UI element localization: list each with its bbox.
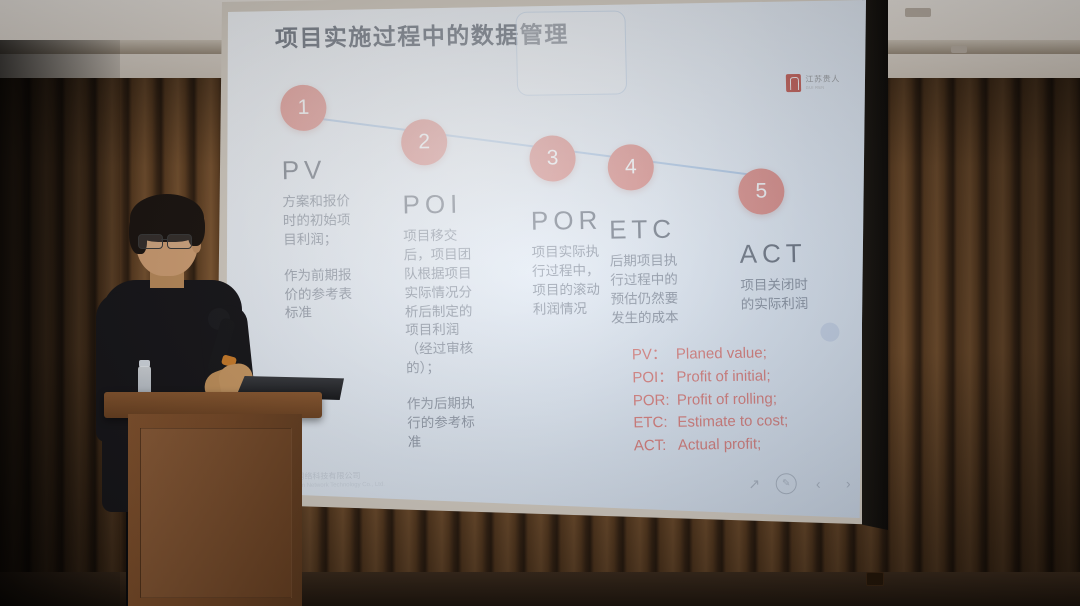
projection-screen: 项目实施过程中的数据管理 江苏贵人 GUI REN 1 PV 方案和报价时的初始… xyxy=(226,0,866,518)
legend-key: POI： xyxy=(632,367,676,390)
ceiling-vent xyxy=(905,8,931,17)
glasses-lens-right xyxy=(167,234,192,249)
logo-text: 江苏贵人 GUI REN xyxy=(805,76,840,90)
step-bubble-5: 5 xyxy=(738,168,785,215)
step-node-2: 2 POI 项目移交后，项目团队根据项目实际情况分析后制定的项目利润（经过审核的… xyxy=(401,118,488,452)
share-icon[interactable]: ↗ xyxy=(746,476,763,493)
step-code-1: PV xyxy=(281,154,362,186)
step-bubble-3: 3 xyxy=(529,135,576,182)
step-code-3: POR xyxy=(531,205,612,237)
step-node-4: 4 ETC 后期项目执行过程中的预估仍然要发生的成本 xyxy=(607,144,691,329)
legend-key: ETC: xyxy=(633,412,677,435)
legend-item: PV： Planed value; xyxy=(632,342,787,367)
pen-icon[interactable]: ✎ xyxy=(776,473,797,494)
step-body-4: 后期项目执行过程中的预估仍然要发生的成本 xyxy=(610,252,692,329)
step-body-2: 项目移交后，项目团队根据项目实际情况分析后制定的项目利润（经过审核的）； xyxy=(403,226,486,378)
legend-value: Profit of rolling; xyxy=(677,388,778,412)
step-node-5: 5 ACT 项目关闭时的实际利润 xyxy=(738,168,821,315)
legend-item: POI： Profit of initial; xyxy=(632,365,787,390)
next-slide-icon[interactable]: › xyxy=(840,474,857,491)
step-code-4: ETC xyxy=(609,214,690,246)
legend-block: PV： Planed value; POI： Profit of initial… xyxy=(632,342,789,458)
step-node-1: 1 PV 方案和报价时的初始项目利润； 作为前期报价的参考表标准 xyxy=(280,84,365,323)
glasses-lens-left xyxy=(138,234,163,249)
ceiling-sensor-icon xyxy=(951,46,967,53)
conference-room-photo: 项目实施过程中的数据管理 江苏贵人 GUI REN 1 PV 方案和报价时的初始… xyxy=(0,0,1080,606)
legend-value: Actual profit; xyxy=(678,434,762,458)
logo-mark-icon xyxy=(785,74,800,92)
glasses-icon xyxy=(138,234,198,248)
slide-nav-controls[interactable]: ↗ ✎ ‹ › xyxy=(746,472,857,495)
logo-name-cn: 江苏贵人 xyxy=(805,76,840,84)
legend-value: Profit of initial; xyxy=(676,365,771,389)
screen-artifact-dot xyxy=(820,322,839,341)
step-bubble-4: 4 xyxy=(607,144,654,191)
step-body2-1: 作为前期报价的参考表标准 xyxy=(284,266,365,324)
step-bubble-2: 2 xyxy=(401,119,448,166)
step-body-5: 项目关闭时的实际利润 xyxy=(740,276,821,315)
step-body-1: 方案和报价时的初始项目利润； xyxy=(282,192,363,250)
legend-value: Planed value; xyxy=(676,342,767,366)
step-code-5: ACT xyxy=(739,238,820,270)
legend-key: POR: xyxy=(633,389,677,412)
legend-key: PV： xyxy=(632,344,676,367)
step-body2-2: 作为后期执行的参考标准 xyxy=(407,395,488,453)
highlight-box xyxy=(515,10,627,96)
legend-value: Estimate to cost; xyxy=(677,411,788,435)
logo-name-en: GUI REN xyxy=(806,85,840,89)
wall-outlet xyxy=(866,572,884,586)
legend-item: ETC: Estimate to cost; xyxy=(633,411,788,436)
step-body-3: 项目实际执行过程中，项目的滚动利润情况 xyxy=(531,243,613,320)
legend-item: ACT: Actual profit; xyxy=(634,433,789,458)
slide-content: 项目实施过程中的数据管理 江苏贵人 GUI REN 1 PV 方案和报价时的初始… xyxy=(226,0,866,518)
step-node-3: 3 POR 项目实际执行过程中，项目的滚动利润情况 xyxy=(529,135,613,320)
legend-item: POR: Profit of rolling; xyxy=(633,388,788,413)
screen-right-edge xyxy=(862,0,888,530)
podium-front-panel xyxy=(140,428,292,598)
company-logo: 江苏贵人 GUI REN xyxy=(785,73,840,92)
step-bubble-1: 1 xyxy=(280,85,327,132)
prev-slide-icon[interactable]: ‹ xyxy=(810,475,827,492)
legend-key: ACT: xyxy=(634,435,678,458)
step-code-2: POI xyxy=(402,188,483,220)
